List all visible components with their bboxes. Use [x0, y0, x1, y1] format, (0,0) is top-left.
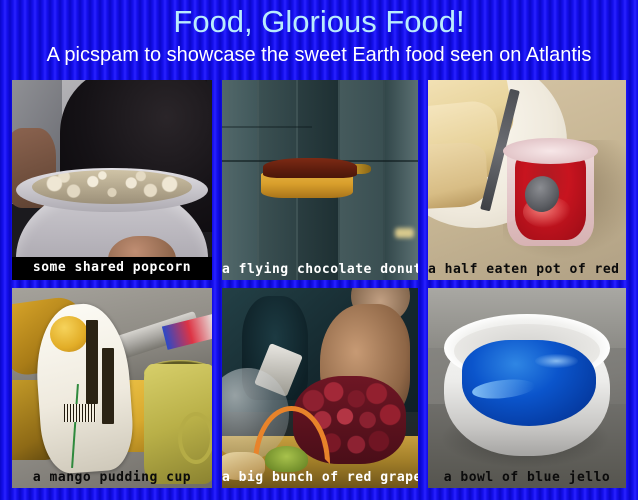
- picspam-page: Food, Glorious Food! A picspam to showca…: [0, 0, 638, 500]
- photo-caption-red-jello: a half eaten pot of red jello: [428, 262, 626, 278]
- photo-caption-red-grapes: a big bunch of red grapes: [222, 470, 418, 486]
- photo-image-popcorn: [12, 80, 212, 280]
- photo-panel-red-jello[interactable]: a half eaten pot of red jello: [428, 80, 626, 280]
- photo-image-red-jello: [428, 80, 626, 280]
- photo-image-red-grapes: [222, 288, 418, 488]
- photo-panel-mango-pudding[interactable]: a mango pudding cup: [12, 288, 212, 488]
- photo-image-donut: [222, 80, 418, 280]
- photo-caption-blue-jello: a bowl of blue jello: [428, 470, 626, 486]
- photo-caption-popcorn: some shared popcorn: [12, 257, 212, 280]
- photo-caption-donut: a flying chocolate donut: [222, 262, 418, 278]
- photo-grid: some shared popcorn a flying chocolate d…: [12, 80, 626, 488]
- photo-image-blue-jello: [428, 288, 626, 488]
- photo-panel-red-grapes[interactable]: a big bunch of red grapes: [222, 288, 418, 488]
- photo-caption-mango-pudding: a mango pudding cup: [12, 470, 212, 486]
- photo-panel-popcorn[interactable]: some shared popcorn: [12, 80, 212, 280]
- page-subtitle: A picspam to showcase the sweet Earth fo…: [0, 41, 638, 68]
- page-title: Food, Glorious Food!: [0, 0, 638, 41]
- photo-image-mango-pudding: [12, 288, 212, 488]
- photo-panel-donut[interactable]: a flying chocolate donut: [222, 80, 418, 280]
- photo-panel-blue-jello[interactable]: a bowl of blue jello: [428, 288, 626, 488]
- page-header: Food, Glorious Food! A picspam to showca…: [0, 0, 638, 68]
